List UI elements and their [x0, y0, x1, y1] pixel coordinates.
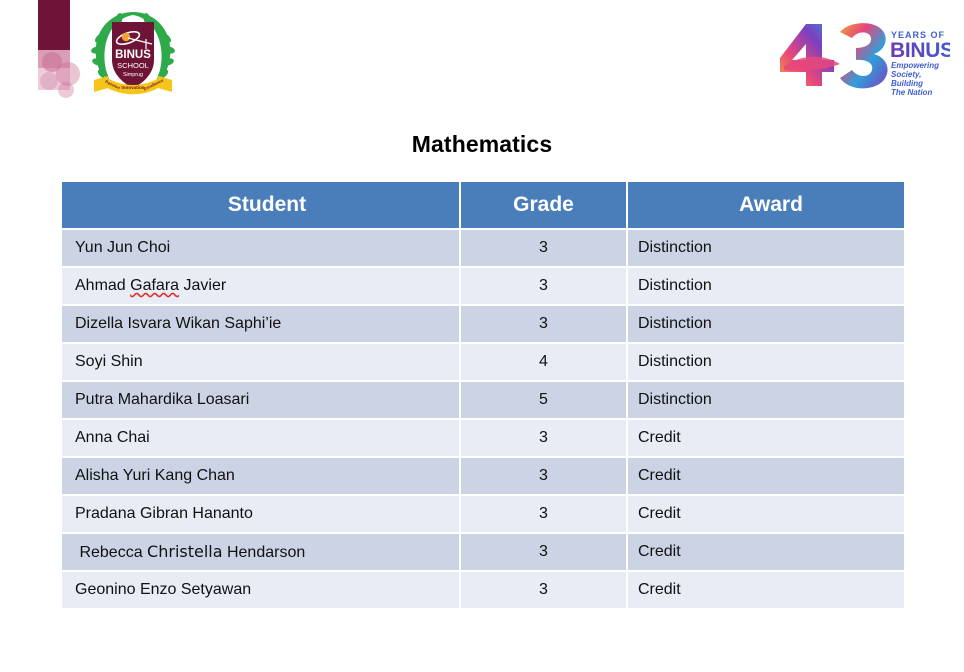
table-row: Yun Jun Choi3Distinction	[62, 229, 904, 267]
slide-title: Mathematics	[0, 131, 964, 158]
cell-student: Putra Mahardika Loasari	[62, 381, 460, 419]
svg-text:Building: Building	[891, 79, 923, 88]
decor-bar-solid	[38, 0, 70, 50]
cell-student: Geonino Enzo Setyawan	[62, 571, 460, 609]
svg-text:Empowering: Empowering	[891, 61, 939, 70]
cell-award: Distinction	[627, 267, 904, 305]
svg-text:SCHOOL: SCHOOL	[117, 61, 149, 70]
results-table: Student Grade Award Yun Jun Choi3Distinc…	[62, 182, 904, 610]
table-row: Ahmad Gafara Javier3Distinction	[62, 267, 904, 305]
cell-grade: 3	[460, 457, 627, 495]
svg-text:Innovation: Innovation	[121, 85, 144, 90]
cell-student: Yun Jun Choi	[62, 229, 460, 267]
cell-grade: 3	[460, 571, 627, 609]
cell-award: Credit	[627, 533, 904, 571]
column-header-award: Award	[627, 182, 904, 229]
cell-award: Credit	[627, 571, 904, 609]
column-header-student: Student	[62, 182, 460, 229]
svg-text:The Nation: The Nation	[891, 88, 932, 97]
alt-font-word: Christella	[147, 542, 222, 561]
binus-school-crest-logo: BINUS SCHOOL Simprug Innovation Passion …	[84, 8, 182, 102]
cell-award: Distinction	[627, 381, 904, 419]
decor-circle-4	[58, 82, 74, 98]
cell-award: Distinction	[627, 229, 904, 267]
table-row: Putra Mahardika Loasari5Distinction	[62, 381, 904, 419]
table-row: Rebecca Christella Hendarson3Credit	[62, 533, 904, 571]
cell-grade: 4	[460, 343, 627, 381]
svg-text:Simprug: Simprug	[123, 72, 143, 78]
cell-grade: 3	[460, 419, 627, 457]
table-row: Dizella Isvara Wikan Saphi’ie3Distinctio…	[62, 305, 904, 343]
cell-award: Credit	[627, 495, 904, 533]
svg-text:Society,: Society,	[891, 70, 921, 79]
cell-award: Credit	[627, 419, 904, 457]
table-head: Student Grade Award	[62, 182, 904, 229]
cell-award: Distinction	[627, 343, 904, 381]
table-row: Geonino Enzo Setyawan3Credit	[62, 571, 904, 609]
misspelled-word: Gafara	[130, 277, 179, 294]
cell-award: Credit	[627, 457, 904, 495]
cell-award: Distinction	[627, 305, 904, 343]
table-row: Alisha Yuri Kang Chan3Credit	[62, 457, 904, 495]
table-header-row: Student Grade Award	[62, 182, 904, 229]
results-table-container: Student Grade Award Yun Jun Choi3Distinc…	[62, 182, 904, 610]
cell-grade: 3	[460, 495, 627, 533]
cell-grade: 3	[460, 533, 627, 571]
cell-grade: 3	[460, 305, 627, 343]
cell-student: Pradana Gibran Hananto	[62, 495, 460, 533]
cell-student: Anna Chai	[62, 419, 460, 457]
43-years-of-binus-logo: YEARS OF BINUS Empowering Society, Build…	[778, 14, 950, 98]
cell-student: Soyi Shin	[62, 343, 460, 381]
cell-grade: 3	[460, 267, 627, 305]
decor-circle-3	[40, 72, 58, 90]
cell-student: Dizella Isvara Wikan Saphi’ie	[62, 305, 460, 343]
cell-student: Ahmad Gafara Javier	[62, 267, 460, 305]
cell-student: Alisha Yuri Kang Chan	[62, 457, 460, 495]
cell-student: Rebecca Christella Hendarson	[62, 533, 460, 571]
svg-text:BINUS: BINUS	[115, 49, 151, 61]
table-body: Yun Jun Choi3DistinctionAhmad Gafara Jav…	[62, 229, 904, 609]
table-row: Pradana Gibran Hananto3Credit	[62, 495, 904, 533]
column-header-grade: Grade	[460, 182, 627, 229]
table-row: Anna Chai3Credit	[62, 419, 904, 457]
cell-grade: 5	[460, 381, 627, 419]
table-row: Soyi Shin4Distinction	[62, 343, 904, 381]
cell-grade: 3	[460, 229, 627, 267]
svg-text:BINUS: BINUS	[890, 39, 950, 62]
